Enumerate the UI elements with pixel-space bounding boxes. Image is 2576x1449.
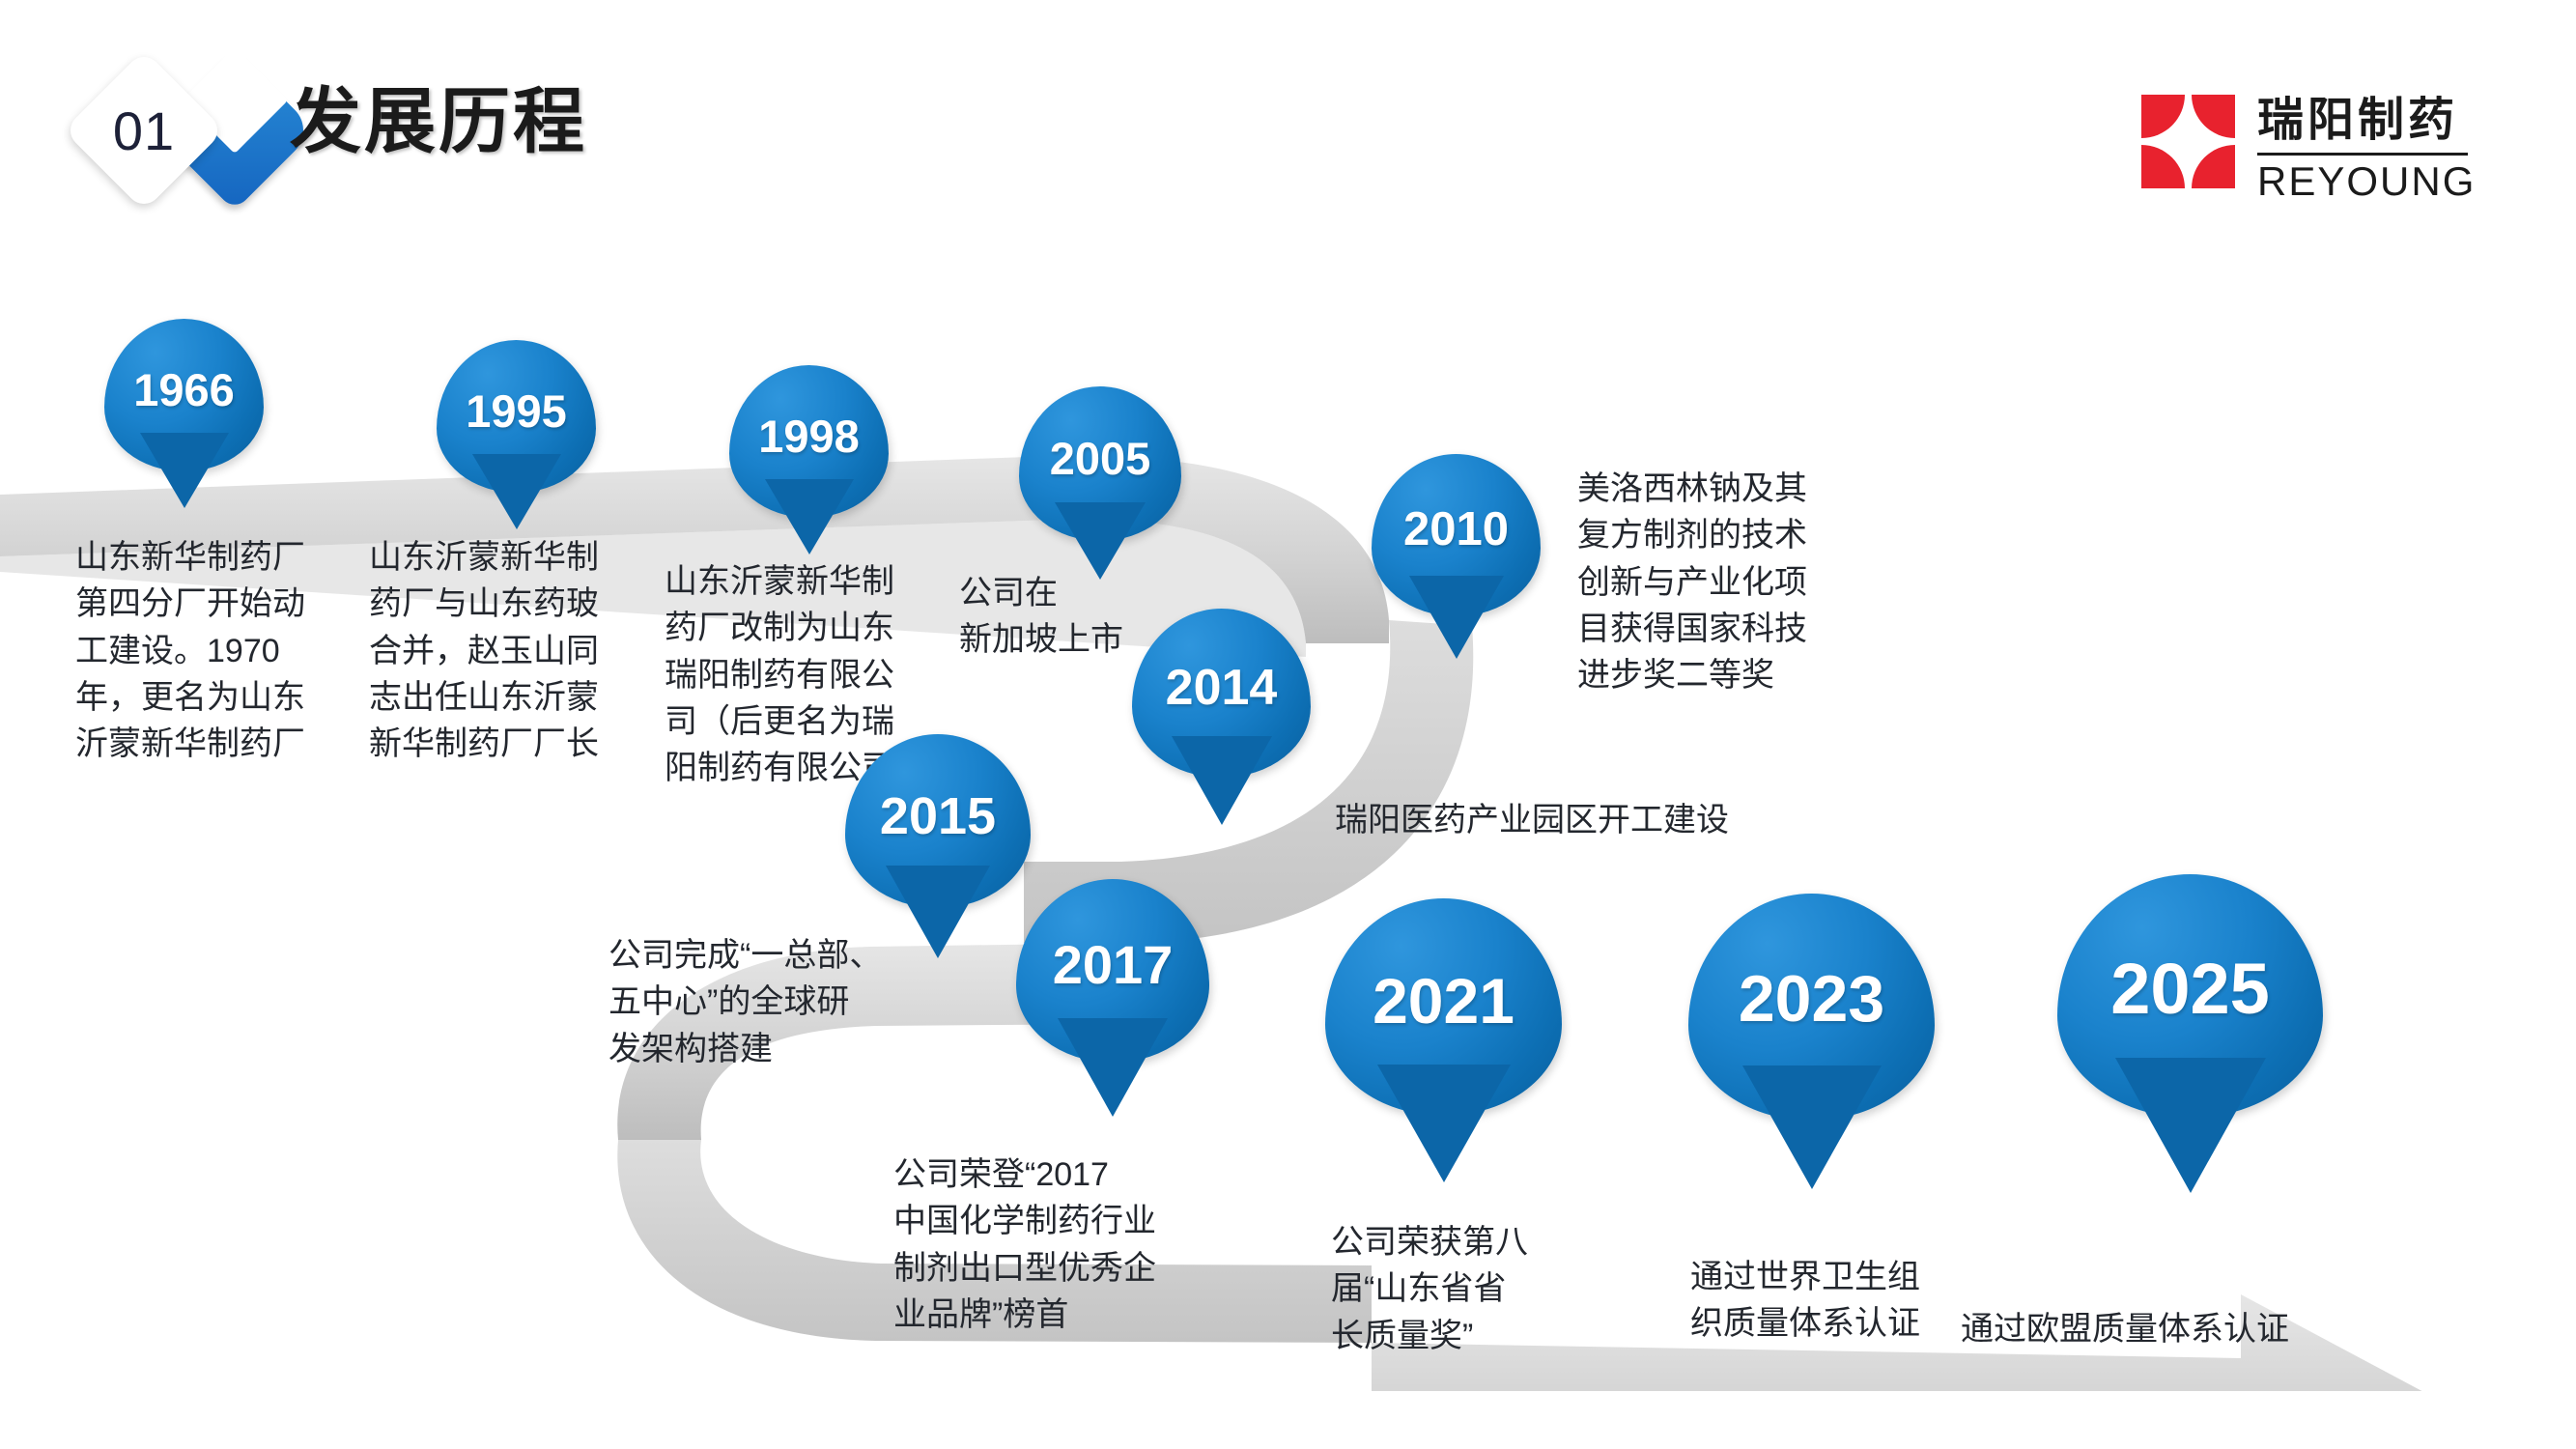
brand-divider (2257, 153, 2468, 156)
milestone-caption-2005: 公司在 新加坡上市 (959, 570, 1123, 664)
slide-header: 01 发展历程 瑞阳制药 REYOUNG (0, 0, 2576, 232)
pin-tail (886, 866, 990, 958)
milestone-pin-1998[interactable]: 1998 (729, 365, 889, 518)
pin-tail (1742, 1065, 1882, 1189)
milestone-pin-2015[interactable]: 2015 (845, 734, 1031, 908)
brand-name-en: REYOUNG (2257, 156, 2476, 207)
milestone-pin-2010[interactable]: 2010 (1372, 454, 1541, 616)
pin-year-label: 2017 (1016, 933, 1209, 996)
milestone-caption-2021: 公司荣获第八 届“山东省省 长质量奖” (1331, 1219, 1528, 1359)
brand-name-cn: 瑞阳制药 (2257, 95, 2458, 147)
milestone-caption-2025: 通过欧盟质量体系认证 (1961, 1306, 2289, 1352)
mark-quadrant-top-left (2141, 95, 2185, 138)
pin-year-label: 2023 (1688, 961, 1935, 1037)
milestone-pin-2023[interactable]: 2023 (1688, 894, 1935, 1121)
milestone-caption-2017: 公司荣登“2017 中国化学制药行业 制剂出口型优秀企 业品牌”榜首 (893, 1151, 1156, 1338)
pin-tail (1055, 502, 1146, 580)
milestone-caption-1966: 山东新华制药厂 第四分厂开始动 工建设。1970 年，更名为山东 沂蒙新华制药厂 (75, 534, 305, 767)
pin-tail (1058, 1018, 1168, 1117)
milestone-pin-2017[interactable]: 2017 (1016, 879, 1209, 1063)
mark-quadrant-bottom-left (2141, 145, 2185, 188)
milestone-pin-1966[interactable]: 1966 (104, 319, 264, 471)
milestone-caption-2010: 美洛西林钠及其 复方制剂的技术 创新与产业化项 目获得国家科技 进步奖二等奖 (1577, 466, 1807, 698)
pin-year-label: 2014 (1132, 659, 1311, 717)
milestone-pin-2014[interactable]: 2014 (1132, 609, 1311, 778)
mark-quadrant-bottom-right (2192, 145, 2235, 188)
milestone-pin-1995[interactable]: 1995 (437, 340, 596, 493)
pin-tail (1377, 1065, 1511, 1182)
mark-quadrant-top-right (2192, 95, 2235, 138)
pin-year-label: 2010 (1372, 502, 1541, 556)
milestone-caption-2023: 通过世界卫生组 织质量体系认证 (1690, 1254, 1920, 1348)
milestone-pin-2005[interactable]: 2005 (1019, 386, 1181, 541)
milestone-pin-2025[interactable]: 2025 (2057, 874, 2323, 1118)
pin-year-label: 1966 (104, 363, 264, 416)
milestone-caption-1995: 山东沂蒙新华制 药厂与山东药玻 合并，赵玉山同 志出任山东沂蒙 新华制药厂厂长 (369, 534, 599, 767)
pin-year-label: 2015 (845, 786, 1031, 846)
pin-year-label: 2005 (1019, 432, 1181, 485)
section-number-badge: 01 (75, 46, 297, 201)
pin-tail (2115, 1058, 2266, 1193)
slide-root: 01 发展历程 瑞阳制药 REYOUNG (0, 0, 2576, 1449)
pin-year-label: 2025 (2057, 948, 2323, 1030)
page-title: 发展历程 (290, 64, 587, 167)
brand-logo: 瑞阳制药 REYOUNG (2141, 87, 2547, 203)
milestone-caption-2015: 公司完成“一总部、 五中心”的全球研 发架构搭建 (609, 932, 882, 1072)
pin-tail (1409, 576, 1504, 659)
milestone-caption-2014: 瑞阳医药产业园区开工建设 (1335, 797, 1729, 843)
pin-tail (472, 454, 561, 529)
reyoung-quadrant-mark-icon (2141, 95, 2238, 191)
pin-year-label: 1998 (729, 410, 889, 463)
section-number-label: 01 (87, 73, 201, 187)
pin-tail (765, 479, 854, 554)
milestone-pin-2021[interactable]: 2021 (1325, 898, 1562, 1116)
pin-year-label: 1995 (437, 384, 596, 438)
pin-tail (1172, 736, 1272, 825)
pin-tail (140, 433, 229, 508)
pin-year-label: 2021 (1325, 964, 1562, 1037)
